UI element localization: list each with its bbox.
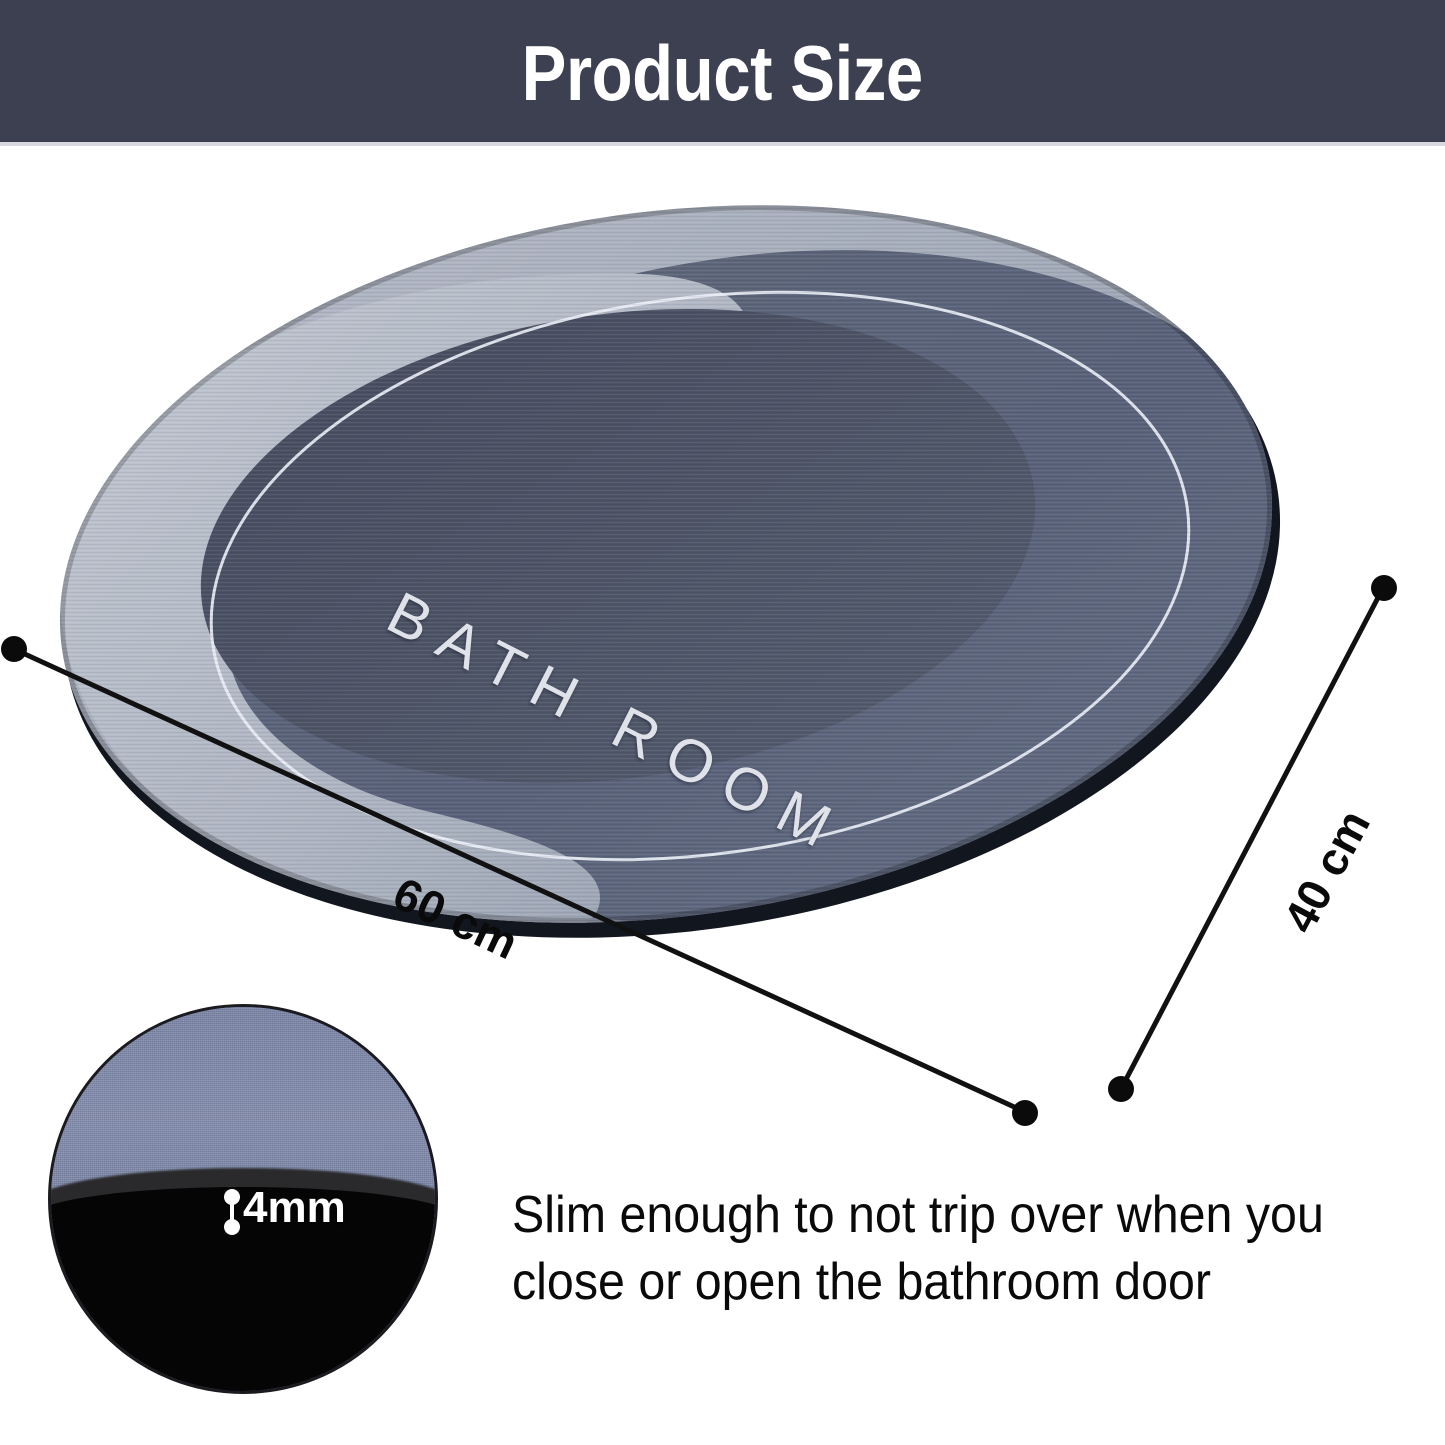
thickness-callout-circle: 4mm — [48, 1004, 438, 1394]
depth-dim-dot-start — [1371, 575, 1397, 601]
width-dim-dot-end — [1012, 1100, 1038, 1126]
thickness-value-label: 4mm — [243, 1183, 346, 1233]
mat-surface-closeup — [51, 1007, 435, 1187]
caption-line-1: Slim enough to not trip over when you — [512, 1182, 1349, 1249]
width-dim-dot-start — [1, 636, 27, 662]
infographic-canvas: Product Size — [0, 0, 1445, 1445]
feature-caption: Slim enough to not trip over when you cl… — [512, 1182, 1349, 1315]
thickness-measure-marker — [219, 1189, 245, 1235]
depth-dim-dot-end — [1108, 1076, 1134, 1102]
caption-line-2: close or open the bathroom door — [512, 1249, 1349, 1316]
